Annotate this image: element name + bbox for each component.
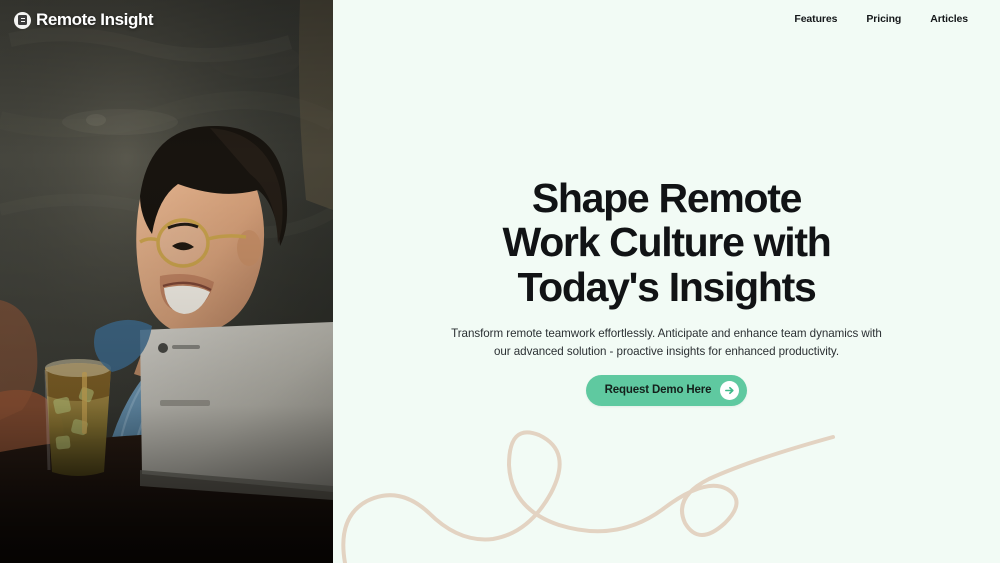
nav-item-pricing[interactable]: Pricing xyxy=(866,13,901,25)
request-demo-button[interactable]: Request Demo Here xyxy=(586,375,748,406)
hero-content-panel: Features Pricing Articles Shape Remote W… xyxy=(333,0,1000,563)
hero-subtitle: Transform remote teamwork effortlessly. … xyxy=(451,325,883,361)
hero-photo-panel: Remote Insight xyxy=(0,0,333,563)
main-navigation: Features Pricing Articles xyxy=(794,0,1000,38)
brand-name: Remote Insight xyxy=(36,10,153,30)
request-demo-label: Request Demo Here xyxy=(605,384,712,396)
hero-headline: Shape Remote Work Culture with Today's I… xyxy=(482,176,852,309)
nav-item-features[interactable]: Features xyxy=(794,13,837,25)
hero-photograph xyxy=(0,0,333,563)
arrow-right-circle-icon xyxy=(720,381,739,400)
brand-logo[interactable]: Remote Insight xyxy=(14,10,153,30)
badge-logo-icon xyxy=(14,12,31,29)
nav-item-articles[interactable]: Articles xyxy=(930,13,968,25)
hero-section: Shape Remote Work Culture with Today's I… xyxy=(333,176,1000,406)
squiggle-line-icon xyxy=(333,413,1000,563)
landing-page: Remote Insight Features Pricing Articles… xyxy=(0,0,1000,563)
